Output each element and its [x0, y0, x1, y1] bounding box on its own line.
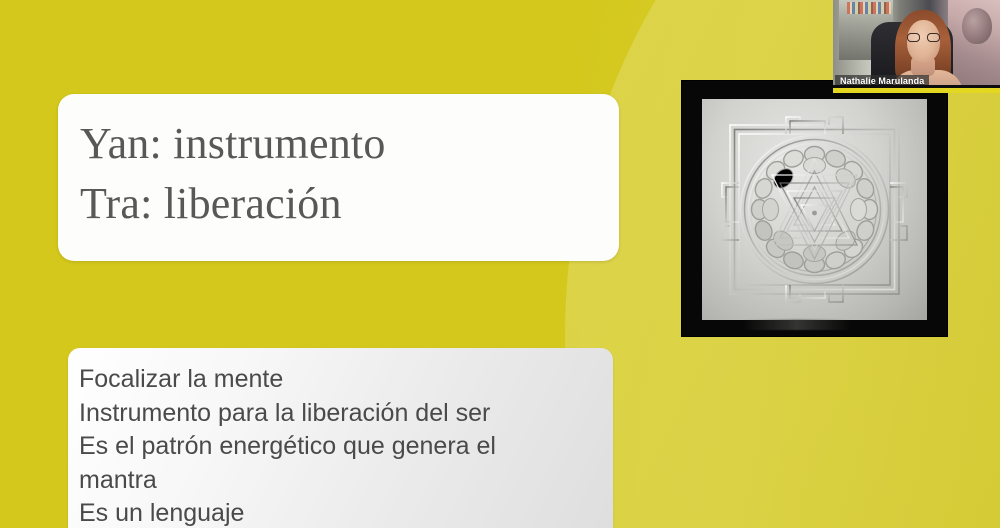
- body-line-4: mantra: [79, 464, 605, 498]
- yantra-image-caption: [742, 319, 852, 330]
- webcam-participant-tile[interactable]: Nathalie Marulanda: [833, 0, 1000, 92]
- body-line-2: Instrumento para la liberación del ser: [79, 397, 605, 431]
- title-line-2: Tra: liberación: [80, 174, 607, 234]
- body-line-5: Es un lenguaje: [79, 497, 605, 528]
- webcam-buddha-head: [962, 8, 992, 44]
- body-card-lines: Focalizar la mente Instrumento para la l…: [79, 363, 605, 528]
- body-line-1: Focalizar la mente: [79, 363, 605, 397]
- webcam-books: [847, 2, 891, 14]
- title-card: Yan: instrumento Tra: liberación: [58, 94, 619, 261]
- sri-yantra-image: [702, 99, 927, 320]
- webcam-bottom-accent-bar: [833, 88, 1000, 93]
- sri-yantra-graphic: [702, 99, 927, 320]
- sri-yantra-image-frame: [682, 81, 947, 336]
- title-line-1: Yan: instrumento: [80, 114, 607, 174]
- video-call-slide-view: Yan: instrumento Tra: liberación Focaliz…: [0, 0, 1000, 528]
- body-card: Focalizar la mente Instrumento para la l…: [68, 348, 613, 528]
- body-line-3: Es el patrón energético que genera el: [79, 430, 605, 464]
- webcam-person-glasses: [907, 33, 940, 42]
- title-card-lines: Yan: instrumento Tra: liberación: [80, 114, 607, 234]
